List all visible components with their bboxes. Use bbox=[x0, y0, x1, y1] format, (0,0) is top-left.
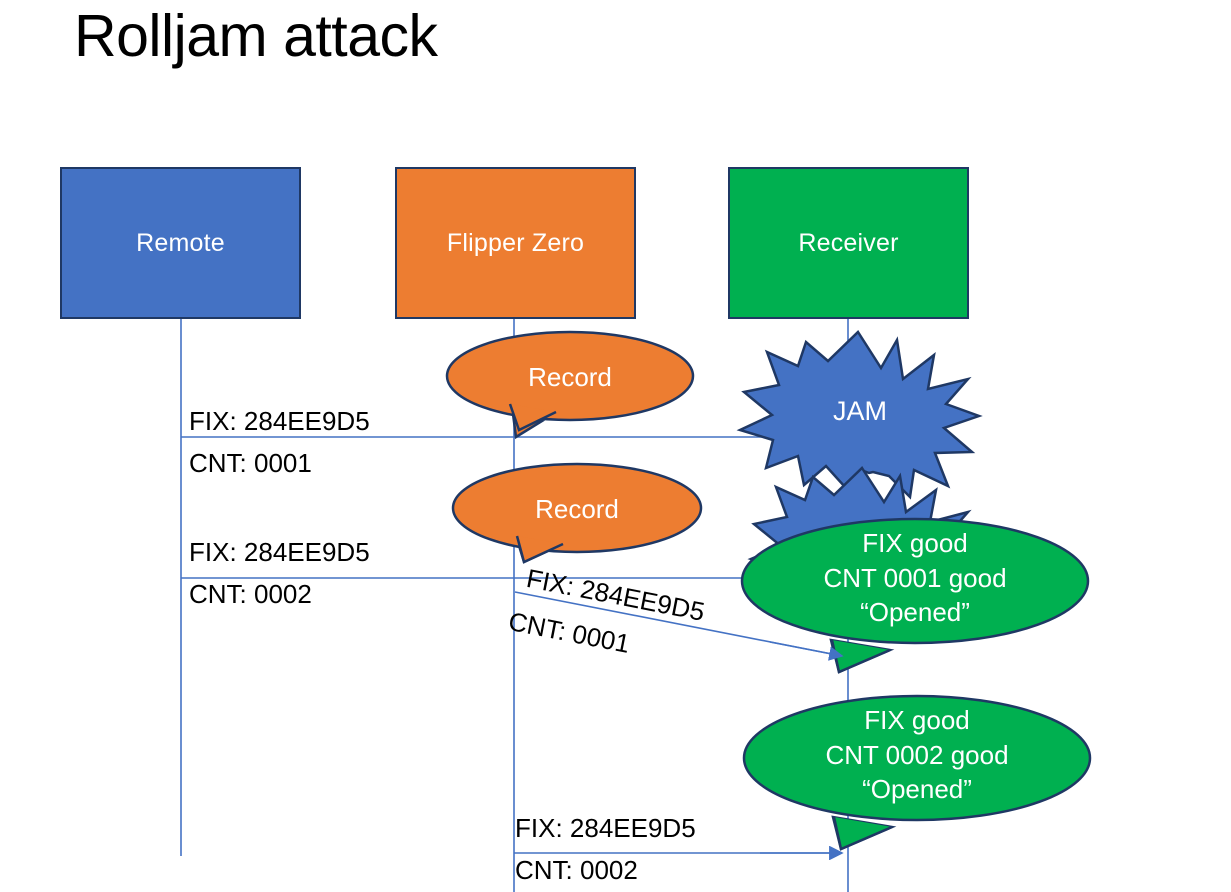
arrowhead-overlay bbox=[0, 0, 1231, 892]
msg-remote-tx-2-cnt: CNT: 0002 bbox=[189, 579, 312, 610]
msg-remote-tx-1-fix: FIX: 284EE9D5 bbox=[189, 406, 370, 437]
arrowhead-replay-1 bbox=[770, 642, 842, 656]
msg-remote-tx-1-cnt: CNT: 0001 bbox=[189, 448, 312, 479]
msg-replay-2-fix: FIX: 284EE9D5 bbox=[515, 813, 696, 844]
msg-remote-tx-2-fix: FIX: 284EE9D5 bbox=[189, 537, 370, 568]
slide-canvas: Rolljam attack Remote Flipper Zero Recei… bbox=[0, 0, 1231, 892]
msg-replay-2-cnt: CNT: 0002 bbox=[515, 855, 638, 886]
